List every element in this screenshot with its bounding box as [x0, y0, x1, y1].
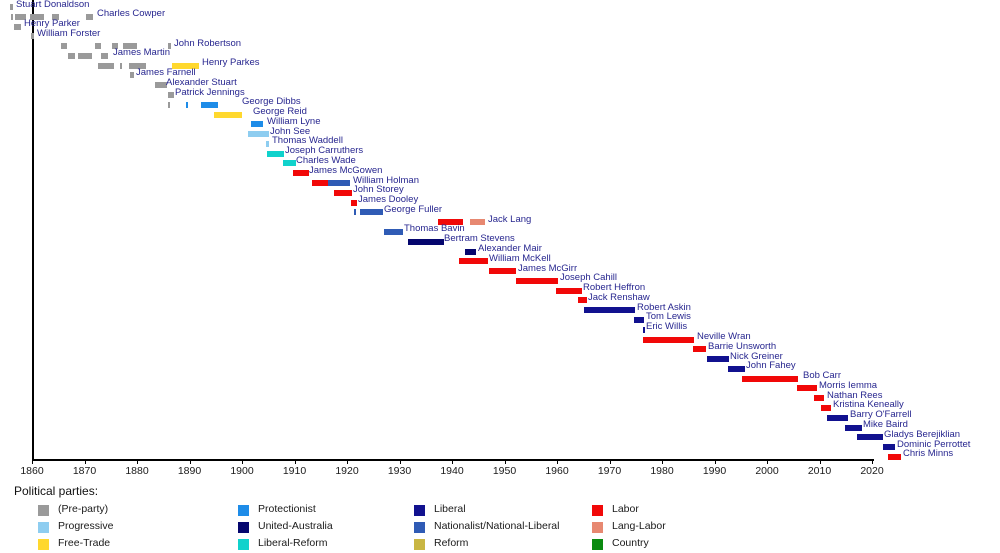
x-tick-mark — [85, 460, 86, 464]
timeline-row: John See — [0, 129, 1000, 139]
legend-swatch-lang-labor — [592, 522, 603, 533]
timeline-row-label: James Martin — [113, 48, 170, 58]
timeline-row: Patrick Jennings — [0, 90, 1000, 100]
x-tick-mark — [820, 460, 821, 464]
timeline-bar-segment — [328, 180, 350, 186]
timeline-row: William Forster — [0, 31, 1000, 41]
timeline-row: Neville Wran — [0, 335, 1000, 345]
legend-swatch-labor — [592, 505, 603, 516]
timeline-bar-segment — [742, 376, 798, 382]
x-tick-label: 1910 — [283, 465, 306, 477]
timeline-bar-segment — [101, 53, 108, 59]
timeline-row: Robert Askin — [0, 305, 1000, 315]
legend-label: Labor — [612, 503, 639, 515]
x-tick-label: 1870 — [73, 465, 96, 477]
legend-label: Progressive — [58, 520, 113, 532]
timeline-row-label: John Robertson — [174, 39, 241, 49]
timeline-bar-segment — [693, 346, 706, 352]
timeline-row: James McGowen — [0, 168, 1000, 178]
legend: Political parties: (Pre-party)Progressiv… — [0, 484, 1000, 553]
timeline-row: Charles Cowper — [0, 12, 1000, 22]
timeline-row: Barry O'Farrell — [0, 413, 1000, 423]
legend-swatch-reform — [414, 539, 425, 550]
timeline-bar-segment — [584, 307, 635, 313]
timeline-bar-segment — [821, 405, 831, 411]
timeline-row: Nick Greiner — [0, 354, 1000, 364]
legend-swatch-progressive — [38, 522, 49, 533]
timeline-bar-segment — [883, 444, 895, 450]
timeline-bar-segment — [814, 395, 824, 401]
timeline-bar-segment — [95, 43, 101, 49]
timeline-row: Jack Lang — [0, 217, 1000, 227]
timeline-bar-segment — [707, 356, 729, 362]
timeline-bar-segment — [98, 63, 114, 69]
x-tick-mark — [715, 460, 716, 464]
timeline-bar-segment — [470, 219, 485, 225]
timeline-bar-segment — [251, 121, 263, 127]
timeline-bar-segment — [408, 239, 444, 245]
plot-area: Stuart DonaldsonCharles CowperHenry Park… — [0, 0, 1000, 460]
x-tick-label: 1970 — [598, 465, 621, 477]
timeline-row-label: Eric Willis — [646, 322, 687, 332]
x-tick-mark — [295, 460, 296, 464]
x-tick-label: 1960 — [545, 465, 568, 477]
x-tick-mark — [242, 460, 243, 464]
timeline-row: Dominic Perrottet — [0, 442, 1000, 452]
timeline-bar-segment — [10, 4, 13, 10]
timeline-bar-segment — [120, 63, 122, 69]
x-tick-mark — [190, 460, 191, 464]
timeline-bar-segment — [68, 53, 75, 59]
x-tick-label: 2010 — [808, 465, 831, 477]
timeline-row: Mike Baird — [0, 423, 1000, 433]
timeline-row: William Holman — [0, 178, 1000, 188]
x-tick-mark — [32, 460, 33, 464]
timeline-bar-segment — [643, 337, 694, 343]
timeline-bar-segment — [465, 249, 476, 255]
x-axis-ticks: 1860187018801890190019101920193019401950… — [0, 460, 1000, 482]
timeline-row: John Storey — [0, 188, 1000, 198]
timeline-bar-segment — [634, 317, 644, 323]
x-tick-mark — [137, 460, 138, 464]
timeline-bar-segment — [827, 415, 848, 421]
timeline-bar-segment — [354, 209, 356, 215]
timeline-bar-segment — [857, 434, 883, 440]
timeline-bar-segment — [78, 53, 92, 59]
timeline-row: James McGirr — [0, 266, 1000, 276]
x-tick-label: 1990 — [703, 465, 726, 477]
timeline-row: Alexander Stuart — [0, 80, 1000, 90]
x-tick-label: 1950 — [493, 465, 516, 477]
timeline-bar-segment — [61, 43, 67, 49]
x-tick-mark — [347, 460, 348, 464]
x-tick-label: 1860 — [20, 465, 43, 477]
timeline-bar-segment — [283, 160, 296, 166]
x-tick-mark — [662, 460, 663, 464]
timeline-bar-segment — [516, 278, 558, 284]
timeline-bar-segment — [845, 425, 862, 431]
timeline-bar-segment — [86, 14, 93, 20]
x-tick-label: 1980 — [650, 465, 673, 477]
x-tick-label: 1900 — [230, 465, 253, 477]
timeline-row: Barrie Unsworth — [0, 344, 1000, 354]
x-tick-mark — [505, 460, 506, 464]
timeline-bar-segment — [186, 102, 188, 108]
timeline-row: William Lyne — [0, 119, 1000, 129]
timeline-bar-segment — [578, 297, 587, 303]
timeline-row-label: Charles Cowper — [97, 9, 165, 19]
timeline-bar-segment — [334, 190, 352, 196]
timeline-row: James Dooley — [0, 198, 1000, 208]
timeline-bar-segment — [266, 141, 269, 147]
timeline-row: Henry Parker — [0, 22, 1000, 32]
timeline-bar-segment — [293, 170, 309, 176]
timeline-bar-segment — [459, 258, 488, 264]
x-tick-mark — [557, 460, 558, 464]
legend-swatch-united-australia — [238, 522, 249, 533]
x-tick-label: 1940 — [440, 465, 463, 477]
legend-swatch-liberal — [414, 505, 425, 516]
timeline-bar-segment — [384, 229, 403, 235]
timeline-row: William McKell — [0, 256, 1000, 266]
x-tick-label: 1930 — [388, 465, 411, 477]
x-tick-mark — [452, 460, 453, 464]
legend-label: Protectionist — [258, 503, 316, 515]
x-tick-mark — [872, 460, 873, 464]
timeline-row-label: Stuart Donaldson — [16, 0, 89, 10]
legend-swatch-liberal-reform — [238, 539, 249, 550]
timeline-row: Charles Wade — [0, 158, 1000, 168]
timeline-row: Joseph Carruthers — [0, 149, 1000, 159]
legend-title: Political parties: — [14, 484, 98, 498]
timeline-bar-segment — [728, 366, 745, 372]
timeline-row: George Dibbs — [0, 100, 1000, 110]
timeline-bar-segment — [168, 92, 174, 98]
timeline-bar-segment — [556, 288, 582, 294]
timeline-bar-segment — [489, 268, 516, 274]
x-tick-label: 2020 — [860, 465, 883, 477]
legend-label: Reform — [434, 537, 468, 549]
timeline-bar-segment — [312, 180, 328, 186]
timeline-bar-segment — [130, 72, 134, 78]
timeline-chart-root: Stuart DonaldsonCharles CowperHenry Park… — [0, 0, 1000, 553]
legend-label: (Pre-party) — [58, 503, 108, 515]
legend-swatch-country — [592, 539, 603, 550]
timeline-row: Eric Willis — [0, 325, 1000, 335]
timeline-bar-segment — [248, 131, 269, 137]
x-tick-label: 2000 — [755, 465, 778, 477]
legend-label: Nationalist/National-Liberal — [434, 520, 559, 532]
timeline-bar-segment — [201, 102, 218, 108]
x-tick-label: 1890 — [178, 465, 201, 477]
timeline-row: Thomas Waddell — [0, 139, 1000, 149]
timeline-row: John Fahey — [0, 364, 1000, 374]
timeline-bar-segment — [351, 200, 357, 206]
legend-label: Country — [612, 537, 649, 549]
timeline-row: Tom Lewis — [0, 315, 1000, 325]
legend-label: Lang-Labor — [612, 520, 666, 532]
timeline-row-label: Henry Parkes — [202, 58, 260, 68]
legend-swatch-pre-party — [38, 505, 49, 516]
timeline-row: Joseph Cahill — [0, 276, 1000, 286]
timeline-row: Gladys Berejiklian — [0, 432, 1000, 442]
x-tick-mark — [400, 460, 401, 464]
legend-swatch-protectionist — [238, 505, 249, 516]
x-tick-mark — [767, 460, 768, 464]
timeline-bar-segment — [214, 112, 242, 118]
timeline-row-label: Chris Minns — [903, 449, 953, 459]
legend-label: Liberal-Reform — [258, 537, 327, 549]
timeline-row-label: Jack Lang — [488, 215, 531, 225]
legend-label: United-Australia — [258, 520, 333, 532]
legend-label: Free-Trade — [58, 537, 110, 549]
x-tick-label: 1920 — [335, 465, 358, 477]
timeline-row: James Martin — [0, 51, 1000, 61]
legend-swatch-free-trade — [38, 539, 49, 550]
timeline-row: Jack Renshaw — [0, 295, 1000, 305]
timeline-row: Robert Heffron — [0, 286, 1000, 296]
timeline-row-label: William Forster — [37, 29, 100, 39]
timeline-row-label: Patrick Jennings — [175, 88, 245, 98]
timeline-bar-segment — [31, 33, 34, 39]
timeline-bar-segment — [11, 14, 13, 20]
legend-label: Liberal — [434, 503, 466, 515]
timeline-bar-segment — [168, 102, 170, 108]
legend-swatch-nationalist-national-liberal — [414, 522, 425, 533]
x-tick-label: 1880 — [125, 465, 148, 477]
timeline-bar-segment — [888, 454, 901, 460]
timeline-row-label: John Fahey — [746, 361, 796, 371]
timeline-bar-segment — [643, 327, 645, 333]
x-tick-mark — [610, 460, 611, 464]
timeline-bar-segment — [14, 24, 21, 30]
timeline-row: James Farnell — [0, 70, 1000, 80]
timeline-row: George Reid — [0, 110, 1000, 120]
timeline-bar-segment — [797, 385, 817, 391]
timeline-row-label: George Fuller — [384, 205, 442, 215]
timeline-bar-segment — [360, 209, 383, 215]
timeline-bar-segment — [267, 151, 284, 157]
